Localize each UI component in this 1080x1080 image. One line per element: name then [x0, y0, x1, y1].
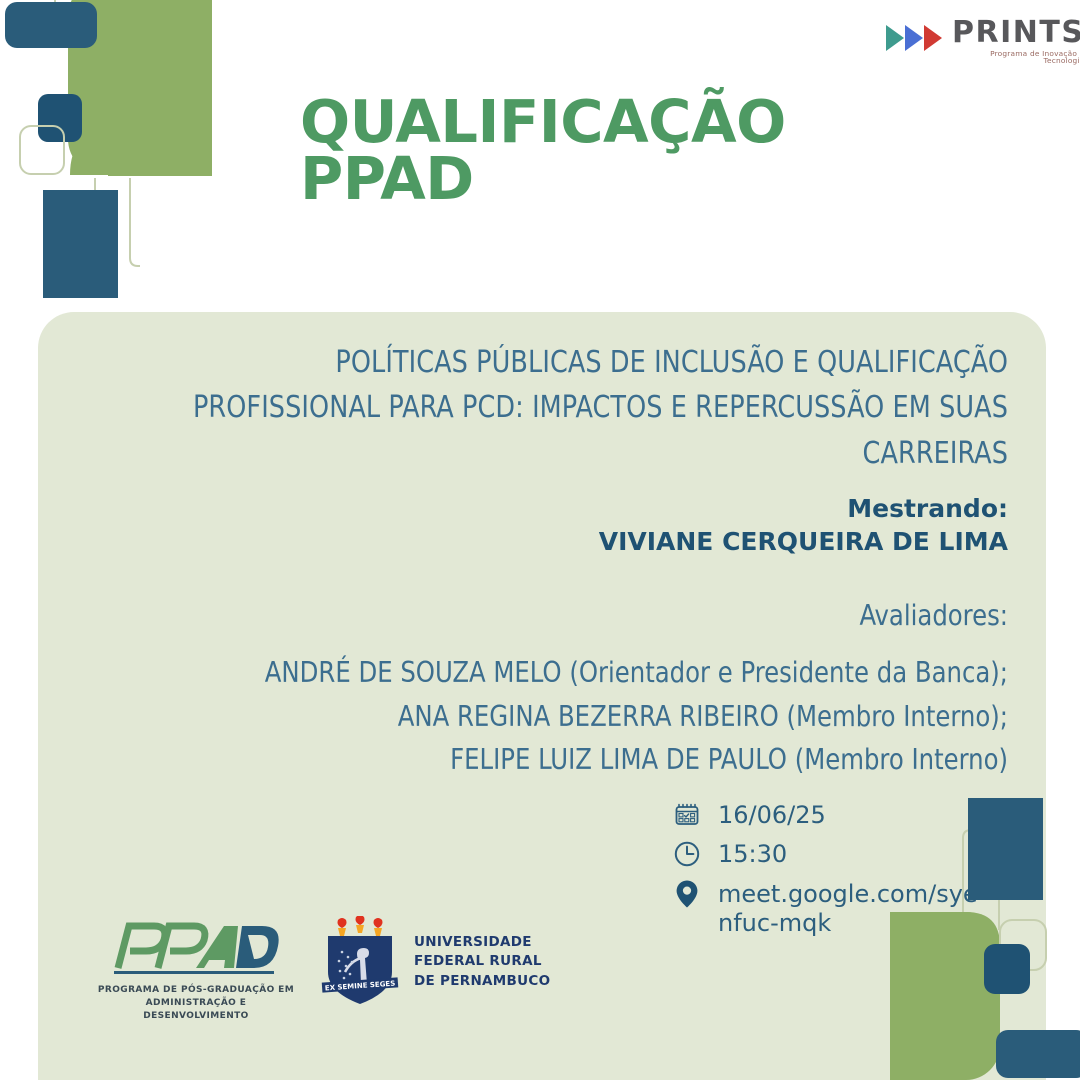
ufrpe-name-line2: FEDERAL RURAL: [414, 952, 550, 972]
page-title: QUALIFICAÇÃO PPAD: [300, 94, 920, 207]
ufrpe-name-line1: UNIVERSIDADE: [414, 933, 550, 953]
content-panel: POLÍTICAS PÚBLICAS DE INCLUSÃO E QUALIFI…: [38, 312, 1046, 1080]
ppad-subtitle-line2: ADMINISTRAÇÃO E DESENVOLVIMENTO: [96, 997, 296, 1023]
page-title-line2: PPAD: [300, 151, 920, 208]
chevron-icon: [884, 23, 946, 53]
study-title-line2: PROFISSIONAL PARA PCD: IMPACTOS E REPERC…: [162, 385, 1008, 430]
study-title-line1: POLÍTICAS PÚBLICAS DE INCLUSÃO E QUALIFI…: [162, 340, 1008, 385]
candidate-block: Mestrando: VIVIANE CERQUEIRA DE LIMA: [98, 492, 1008, 558]
prints-wordmark: PRINTS Programa de Inovação e Tecnologia: [952, 18, 1080, 65]
prints-word: PRINTS: [952, 18, 1080, 48]
study-title-line3: CARREIRAS: [162, 431, 1008, 476]
connector-line: [130, 178, 140, 266]
ppad-subtitle: PROGRAMA DE PÓS-GRADUAÇÃO EM ADMINISTRAÇ…: [96, 984, 296, 1023]
decor-green-rect: [68, 0, 212, 175]
evaluator-item: ANA REGINA BEZERRA RIBEIRO (Membro Inter…: [125, 695, 1009, 738]
ufrpe-name-line3: DE PERNAMBUCO: [414, 972, 550, 992]
prints-tagline: Programa de Inovação e Tecnologia: [952, 50, 1080, 65]
ppad-mark-icon: [96, 918, 286, 976]
ppad-logo: PROGRAMA DE PÓS-GRADUAÇÃO EM ADMINISTRAÇ…: [96, 918, 296, 1023]
candidate-label: Mestrando:: [98, 492, 1008, 525]
decor-blue-square: [38, 94, 82, 142]
evaluators-heading: Avaliadores:: [125, 594, 1009, 637]
candidate-name: VIVIANE CERQUEIRA DE LIMA: [98, 525, 1008, 558]
evaluators-block: Avaliadores: ANDRÉ DE SOUZA MELO (Orient…: [125, 594, 1009, 781]
ufrpe-name: UNIVERSIDADE FEDERAL RURAL DE PERNAMBUCO: [414, 933, 550, 992]
study-title: POLÍTICAS PÚBLICAS DE INCLUSÃO E QUALIFI…: [162, 340, 1008, 476]
evaluator-item: ANDRÉ DE SOUZA MELO (Orientador e Presid…: [125, 651, 1009, 694]
decor-blue-tall: [43, 190, 118, 298]
clock-icon: [672, 839, 702, 869]
event-date: 16/06/25: [718, 800, 826, 830]
map-pin-icon: [672, 879, 702, 909]
calendar-icon: [672, 800, 702, 830]
decor-blue-pill: [5, 2, 97, 48]
evaluator-item: FELIPE LUIZ LIMA DE PAULO (Membro Intern…: [125, 738, 1009, 781]
torch-icon: [338, 916, 383, 936]
event-date-row: 16/06/25: [672, 800, 1002, 830]
event-location-row: meet.google.com/sye-nfuc-mqk: [672, 879, 1002, 939]
connector-line: [97, 38, 150, 175]
ufrpe-crest-icon: EX SEMINE SEGES: [318, 916, 402, 1008]
event-time: 15:30: [718, 839, 787, 869]
decor-green-block: [70, 0, 212, 175]
event-info: 16/06/25 15:30 meet.go: [672, 800, 1002, 938]
event-location: meet.google.com/sye-nfuc-mqk: [718, 879, 1002, 939]
ppad-subtitle-line1: PROGRAMA DE PÓS-GRADUAÇÃO EM: [96, 984, 296, 997]
prints-chevrons: [884, 23, 946, 53]
event-time-row: 15:30: [672, 839, 1002, 869]
prints-logo: PRINTS Programa de Inovação e Tecnologia: [884, 18, 1070, 64]
ufrpe-logo: EX SEMINE SEGES UNIVERSIDADE FEDERAL RUR…: [318, 916, 550, 1008]
poster-canvas: PRINTS Programa de Inovação e Tecnologia…: [0, 0, 1080, 1080]
decor-outline-square: [20, 126, 64, 174]
decor-green-fill: [108, 0, 212, 176]
